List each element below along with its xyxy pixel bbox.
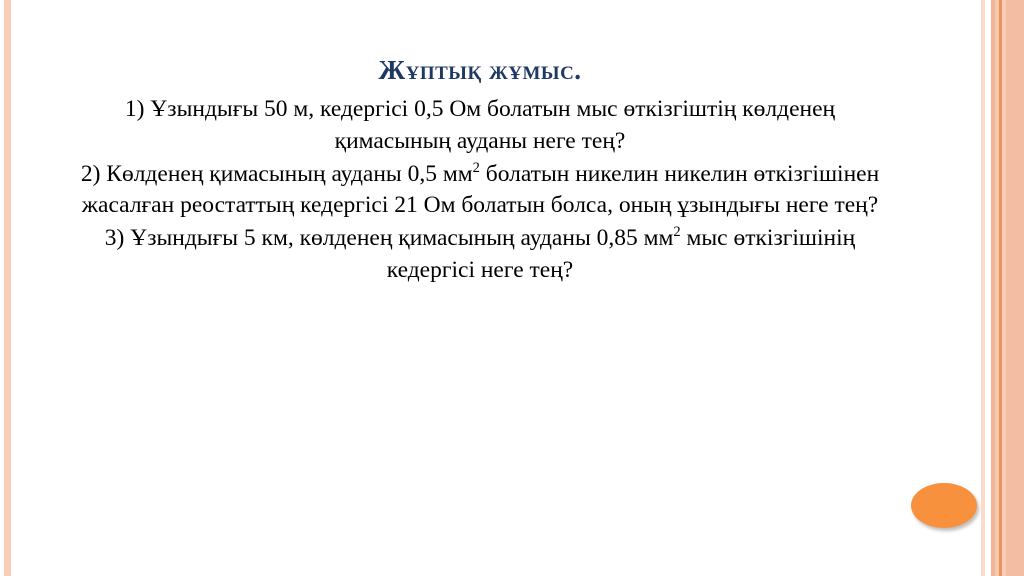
problem-2-text-part1: 2) Көлденең қимасының ауданы 0,5 мм: [81, 161, 473, 187]
slide-canvas: Жұптық жұмыс. 1) Ұзындығы 50 м, кедергіс…: [0, 0, 1024, 576]
problem-item-1: 1) Ұзындығы 50 м, кедергісі 0,5 Ом болат…: [65, 94, 895, 157]
problem-item-3: 3) Ұзындығы 5 км, көлденең қимасының ауд…: [65, 223, 895, 286]
orange-ellipse: [911, 483, 977, 528]
problem-1-text: 1) Ұзындығы 50 м, кедергісі 0,5 Ом болат…: [125, 96, 835, 153]
right-accent-stripe-4: [999, 0, 1002, 576]
problem-item-2: 2) Көлденең қимасының ауданы 0,5 мм2 бол…: [65, 159, 895, 222]
right-accent-stripe-1: [981, 0, 985, 576]
problem-3-superscript: 2: [673, 225, 680, 241]
slide-content: Жұптық жұмыс. 1) Ұзындығы 50 м, кедергіс…: [0, 0, 960, 288]
right-accent-stripe-6: [1006, 0, 1024, 576]
right-accent-stripe-3: [995, 0, 999, 576]
right-accent-stripe-5: [1002, 0, 1006, 576]
problem-2-superscript: 2: [473, 160, 480, 176]
right-accent-stripe-2: [991, 0, 995, 576]
problem-list: 1) Ұзындығы 50 м, кедергісі 0,5 Ом болат…: [65, 94, 895, 286]
slide-title: Жұптық жұмыс.: [0, 54, 960, 86]
problem-3-text-part1: 3) Ұзындығы 5 км, көлденең қимасының ауд…: [105, 225, 674, 251]
